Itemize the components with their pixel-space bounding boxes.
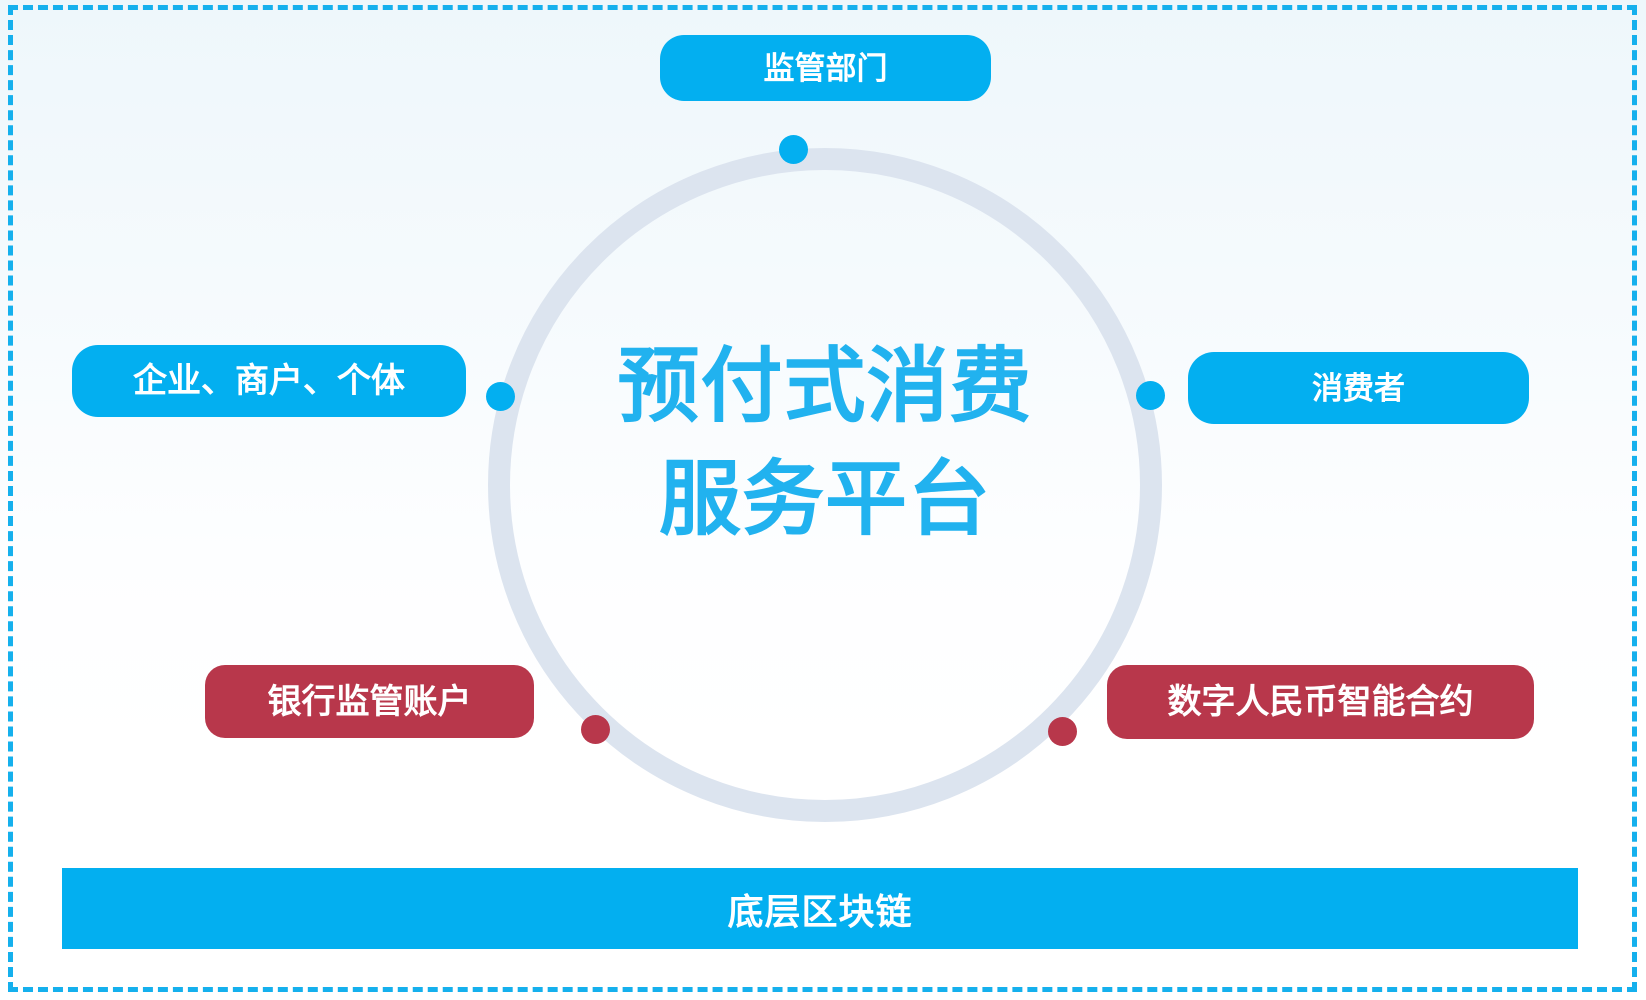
foundation-blockchain-bar[interactable]: 底层区块链 — [62, 868, 1578, 949]
node-enterprise-label: 企业、商户、个体 — [133, 364, 405, 398]
node-regulator-label: 监管部门 — [764, 53, 888, 84]
node-smart-contract-label: 数字人民币智能合约 — [1168, 685, 1474, 719]
node-enterprise-merchant-individual[interactable]: 企业、商户、个体 — [72, 345, 466, 417]
connector-dot-regulator — [779, 135, 808, 164]
foundation-blockchain-label: 底层区块链 — [727, 883, 912, 935]
node-digital-rmb-smart-contract[interactable]: 数字人民币智能合约 — [1107, 665, 1534, 739]
connector-dot-enterprise — [486, 382, 515, 411]
node-consumer-label: 消费者 — [1312, 373, 1405, 404]
node-consumer[interactable]: 消费者 — [1188, 352, 1529, 424]
diagram-canvas: 预付式消费 服务平台 监管部门 企业、商户、个体 消费者 银行监管账户 数字人民… — [0, 0, 1646, 1000]
center-platform-title: 预付式消费 服务平台 — [525, 330, 1125, 556]
connector-dot-bank-account — [581, 715, 610, 744]
connector-dot-consumer — [1136, 381, 1165, 410]
node-regulator[interactable]: 监管部门 — [660, 35, 991, 101]
node-bank-account-label: 银行监管账户 — [268, 685, 472, 719]
connector-dot-smart-contract — [1048, 717, 1077, 746]
node-bank-supervision-account[interactable]: 银行监管账户 — [205, 665, 534, 738]
